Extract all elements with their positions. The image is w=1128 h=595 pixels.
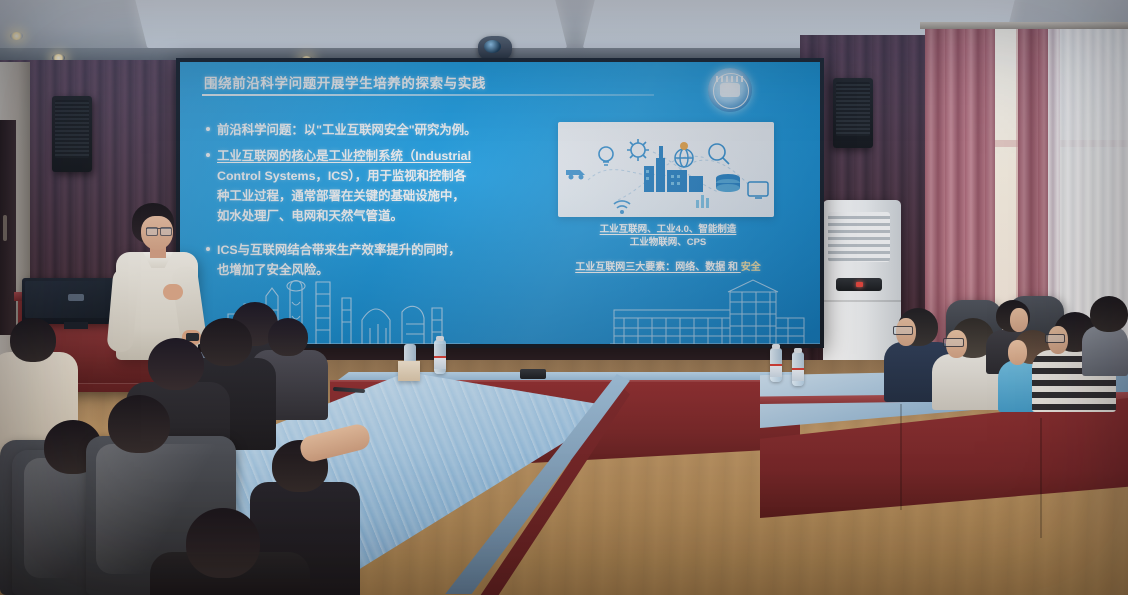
key-points-highlight: 安全 bbox=[741, 262, 761, 273]
glasses-icon bbox=[1045, 334, 1065, 343]
bullet-dot-icon bbox=[206, 247, 210, 251]
bottle-label bbox=[434, 356, 446, 369]
audience-member-head bbox=[186, 508, 260, 578]
slide-bullet-2: 工业互联网的核心是工业控制系统（Industrial Control Syste… bbox=[206, 146, 541, 226]
glasses-icon bbox=[893, 326, 913, 335]
bullet-2-line-3: 种工业过程，通常部署在关键的基础设施中， bbox=[217, 186, 471, 206]
monitor-brand-logo-icon bbox=[68, 294, 84, 301]
campus-building-graphic bbox=[610, 274, 820, 344]
university-emblem-icon bbox=[708, 68, 752, 112]
ac-seam bbox=[823, 300, 901, 302]
audience-member-face bbox=[1010, 308, 1028, 332]
door-handle[interactable] bbox=[3, 215, 7, 241]
slide-bullet-1: 前沿科学问题：以"工业互联网安全"研究为例。 bbox=[206, 120, 536, 140]
audience-member-head bbox=[268, 318, 308, 356]
audience-member-face bbox=[1008, 340, 1027, 365]
diagram-caption-line-1: 工业互联网、工业4.0、智能制造 bbox=[554, 223, 782, 236]
glasses-lens-left-icon bbox=[146, 227, 158, 236]
ac-power-led-icon bbox=[856, 282, 863, 287]
audience-member-head bbox=[200, 318, 252, 366]
bullet-1-text: 前沿科学问题：以"工业互联网安全"研究为例。 bbox=[217, 120, 477, 140]
monitor-stand bbox=[64, 322, 88, 329]
audience-member-head bbox=[148, 338, 204, 390]
bullet-dot-icon bbox=[206, 153, 210, 157]
audience-member-head bbox=[10, 318, 56, 362]
bullet-2-line-1: 工业互联网的核心是工业控制系统（Industrial bbox=[217, 146, 471, 166]
tissue-box[interactable] bbox=[398, 361, 420, 381]
audience-member-head bbox=[108, 395, 170, 453]
emblem-stars-icon bbox=[716, 76, 744, 82]
lecture-room-photo: 围绕前沿科学问题开展学生培养的探索与实践 前沿科学问题：以"工业互联网安全"研究… bbox=[0, 0, 1128, 595]
speaker-grill bbox=[836, 82, 870, 136]
bottle-cap bbox=[772, 344, 780, 349]
emblem-center bbox=[720, 83, 740, 97]
curtain-rod bbox=[920, 22, 1128, 29]
projector-lens-icon bbox=[484, 40, 501, 53]
title-underline bbox=[202, 94, 654, 96]
bottle-cap bbox=[436, 336, 444, 341]
audience-member-head bbox=[1090, 296, 1128, 332]
key-points-prefix: 工业互联网三大要素：网络、数据 和 bbox=[575, 262, 741, 273]
bottle-label bbox=[792, 368, 804, 381]
industrial-iot-diagram bbox=[558, 122, 774, 217]
presentation-slide: 围绕前沿科学问题开展学生培养的探索与实践 前沿科学问题：以"工业互联网安全"研究… bbox=[180, 62, 820, 344]
table-device[interactable] bbox=[520, 369, 546, 379]
iot-diagram-svg bbox=[558, 122, 774, 217]
glasses-icon bbox=[943, 338, 964, 347]
bullet-dot-icon bbox=[206, 127, 210, 131]
diagram-caption-line-2: 工业物联网、CPS bbox=[554, 236, 782, 249]
speaker-grill bbox=[55, 100, 89, 158]
bullet-2-line-4: 如水处理厂、电网和天然气管道。 bbox=[217, 206, 471, 226]
bullet-3-line-1: ICS与互联网结合带来生产效率提升的同时， bbox=[217, 240, 461, 260]
audience-member-torso bbox=[1082, 326, 1128, 376]
bullet-2-line-2: Control Systems，ICS），用于监视和控制各 bbox=[217, 166, 471, 186]
table-seam bbox=[1040, 418, 1042, 538]
glasses-lens-right-icon bbox=[160, 227, 172, 236]
downlight-icon bbox=[10, 32, 23, 40]
ac-vent-grill bbox=[828, 212, 890, 262]
presenter-hand-left bbox=[163, 284, 183, 300]
slide-title: 围绕前沿科学问题开展学生培养的探索与实践 bbox=[204, 72, 604, 92]
table-seam bbox=[900, 404, 902, 510]
bottle-cap bbox=[794, 348, 802, 353]
bottle-label bbox=[770, 364, 782, 377]
key-points-line: 工业互联网三大要素：网络、数据 和 安全 bbox=[532, 258, 804, 273]
diagram-caption: 工业互联网、工业4.0、智能制造 工业物联网、CPS bbox=[554, 223, 782, 249]
